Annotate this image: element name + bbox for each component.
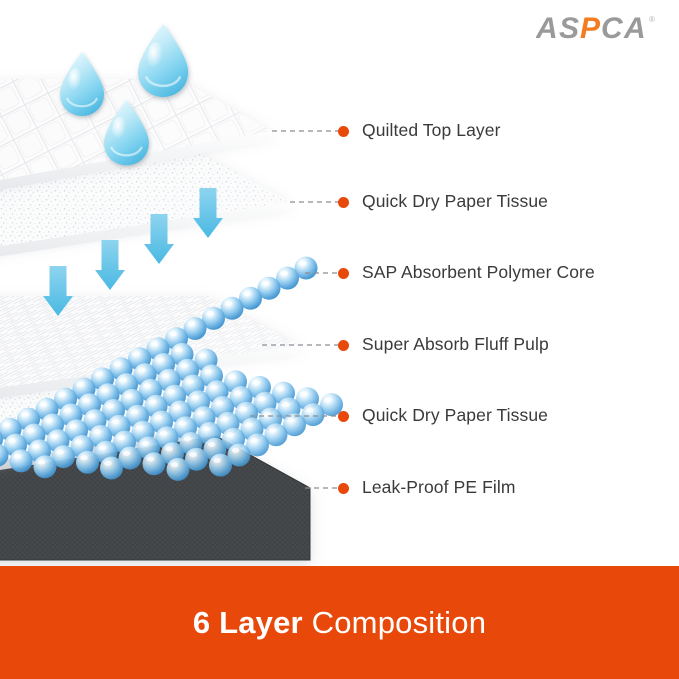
absorption-arrow-3 — [95, 240, 125, 290]
bullet-dot-icon — [338, 268, 349, 279]
registered-trademark-icon: ® — [649, 15, 655, 24]
banner-title-strong: 6 Layer — [193, 605, 303, 640]
callout-quilted-top-layer: Quilted Top Layer — [338, 120, 501, 142]
logo-letter-a2: A — [623, 12, 645, 45]
bullet-dot-icon — [338, 126, 349, 137]
logo-letter-p: P — [580, 12, 601, 45]
bullet-dot-icon — [338, 483, 349, 494]
callout-label: Quick Dry Paper Tissue — [362, 407, 548, 425]
callout-super-absorb-fluff-pulp: Super Absorb Fluff Pulp — [338, 334, 549, 356]
water-droplet-1 — [60, 52, 104, 116]
callout-label: Leak-Proof PE Film — [362, 479, 516, 497]
callout-leak-proof-pe-film: Leak-Proof PE Film — [338, 477, 516, 499]
callout-label: Super Absorb Fluff Pulp — [362, 336, 549, 354]
callout-quick-dry-paper-tissue-upper: Quick Dry Paper Tissue — [338, 191, 548, 213]
bullet-dot-icon — [338, 197, 349, 208]
callout-sap-absorbent-polymer-core: SAP Absorbent Polymer Core — [338, 262, 595, 284]
logo-letter-a1: A — [536, 12, 557, 45]
logo-letter-s: S — [559, 12, 579, 45]
logo-letter-c: C — [601, 12, 624, 45]
callout-label: Quick Dry Paper Tissue — [362, 193, 548, 211]
banner-title-light: Composition — [303, 605, 486, 640]
bullet-dot-icon — [338, 340, 349, 351]
callout-quick-dry-paper-tissue-lower: Quick Dry Paper Tissue — [338, 405, 548, 427]
banner-title: 6 Layer Composition — [193, 605, 486, 641]
callout-label: Quilted Top Layer — [362, 122, 501, 140]
aspca-logo: A S P C A ® — [536, 12, 668, 46]
water-droplet-2 — [138, 24, 188, 97]
bullet-dot-icon — [338, 411, 349, 422]
composition-banner: 6 Layer Composition — [0, 566, 679, 679]
infographic-canvas: A S P C A ® Quilted Top Layer Quick Dry … — [0, 0, 679, 679]
callout-label: SAP Absorbent Polymer Core — [362, 264, 595, 282]
